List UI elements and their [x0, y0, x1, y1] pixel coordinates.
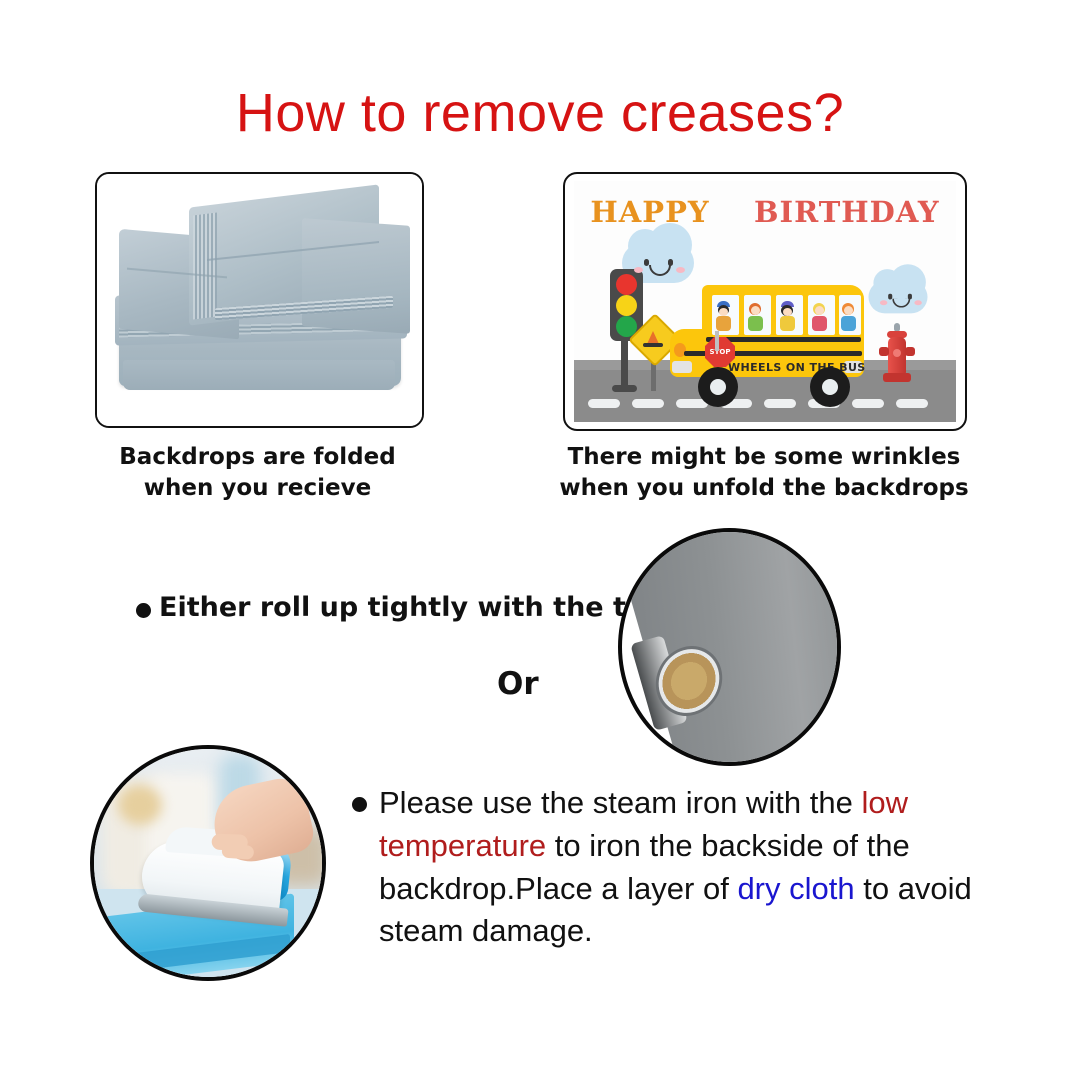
rolled-backdrop-photo [618, 528, 841, 766]
bus-passenger-driver [715, 301, 732, 331]
bus-passenger-2 [747, 301, 764, 331]
banner-headline: HAPPY BIRTHDAY [574, 195, 956, 229]
caption-wrinkles: There might be some wrinkles when you un… [540, 442, 988, 504]
bus-front-bumper [672, 361, 692, 373]
cloud-left-cheek-right [676, 267, 685, 273]
bus-front-hub [710, 379, 726, 395]
road-dash [852, 399, 884, 408]
or-label: Or [497, 666, 539, 702]
instruction-iron-row: Please use the steam iron with the low t… [352, 782, 972, 953]
bus-passenger-5 [840, 301, 857, 331]
sheet-top-right-layer [302, 218, 410, 334]
iron-text-seg1: Please use the steam iron with the [379, 785, 861, 820]
bus-passenger-4 [811, 301, 828, 331]
caption-wrinkles-line2: when you unfold the backdrops [540, 473, 988, 504]
road-dash [764, 399, 796, 408]
cloud-left-smile [649, 265, 671, 276]
traffic-light-pole [621, 333, 628, 389]
traffic-light-yellow-lamp [616, 295, 637, 316]
bus-passenger-3 [779, 301, 796, 331]
stop-sign-icon: STOP [705, 337, 735, 367]
cloud-right-body [868, 281, 927, 314]
instruction-roll-row: Either roll up tightly with the tube [136, 590, 683, 625]
cloud-right-cheek-left [880, 300, 887, 305]
page-title: How to remove creases? [0, 86, 1080, 140]
road-dash [632, 399, 664, 408]
cloud-left-cheek-left [634, 267, 643, 273]
steam-iron-illustration [94, 749, 322, 977]
bullet-dot-icon [136, 603, 151, 618]
stop-sign-arm [715, 331, 719, 351]
traffic-light-red-lamp [616, 274, 637, 295]
bus-rear-hub [822, 379, 838, 395]
birthday-backdrop-illustration: HAPPY BIRTHDAY [574, 181, 956, 422]
birthday-backdrop-photo-frame: HAPPY BIRTHDAY [563, 172, 967, 431]
rolled-backdrop-illustration [620, 530, 839, 764]
bus-side-label: WHEELS ON THE BUS [728, 361, 866, 374]
caption-folded-sheets: Backdrops are folded when you recieve [60, 442, 455, 504]
cloud-right [868, 281, 927, 314]
banner-word-birthday: BIRTHDAY [754, 195, 940, 229]
instruction-iron-text: Please use the steam iron with the low t… [379, 782, 972, 953]
cloud-right-smile [892, 299, 910, 308]
folded-sheets-illustration [97, 174, 422, 426]
cloud-right-cheek-right [914, 300, 921, 305]
folded-sheets-photo-frame [95, 172, 424, 428]
background-blur-shape-3 [118, 785, 162, 825]
caption-folded-sheets-line1: Backdrops are folded [60, 442, 455, 473]
road-dash [896, 399, 928, 408]
banner-word-happy: HAPPY [590, 195, 709, 229]
traffic-light-base [612, 385, 637, 392]
road-dash [588, 399, 620, 408]
bullet-dot-icon [352, 797, 367, 812]
instruction-roll-text: Either roll up tightly with the tube [159, 590, 683, 625]
caption-folded-sheets-line2: when you recieve [60, 473, 455, 504]
caption-wrinkles-line1: There might be some wrinkles [540, 442, 988, 473]
sheet-top-fold-edges [193, 213, 217, 320]
finger-2 [221, 844, 254, 860]
traffic-cone-base [643, 343, 663, 347]
sheet-bottom-layer-2 [123, 360, 395, 390]
iron-text-dry-cloth: dry cloth [737, 871, 854, 906]
steam-iron-photo [90, 745, 326, 981]
infographic-page: How to remove creases? HAPPY BIRTHDAY [0, 0, 1080, 1080]
